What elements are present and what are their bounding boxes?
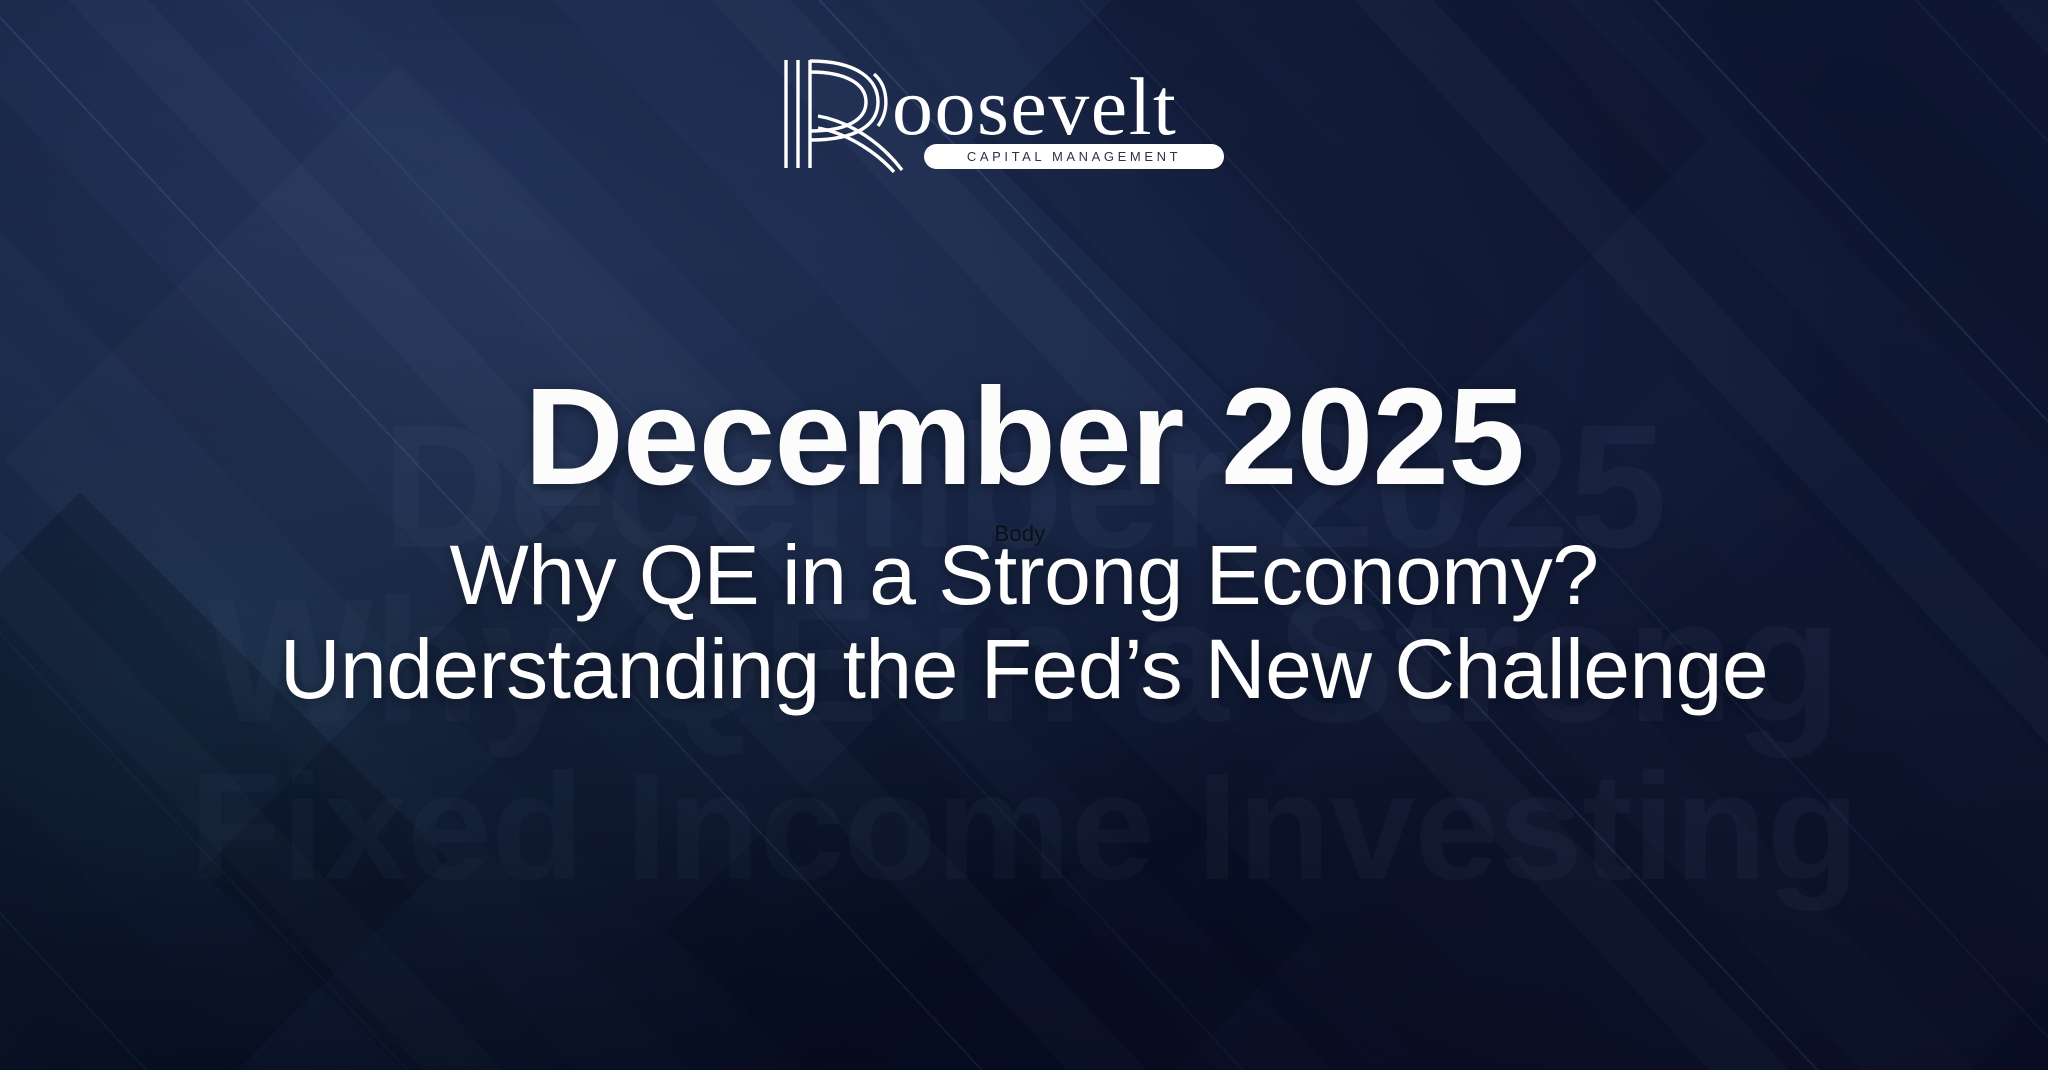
roosevelt-capital-management-logo: oosevelt CAPITAL MANAGEMENT — [774, 52, 1274, 174]
logo-badge-text: CAPITAL MANAGEMENT — [967, 149, 1181, 164]
logo-wordmark: oosevelt — [892, 61, 1177, 152]
logo-monogram-r — [786, 60, 902, 172]
slide-title: December 2025 — [0, 368, 2048, 506]
logo-badge: CAPITAL MANAGEMENT — [924, 144, 1224, 169]
presentation-slide: December 2025 Why QE in a Strong Fixed I… — [0, 0, 2048, 1070]
slide-subtitle-line-2: Understanding the Fed’s New Challenge — [0, 622, 2048, 716]
body-placeholder-artifact: Body — [995, 521, 1046, 547]
